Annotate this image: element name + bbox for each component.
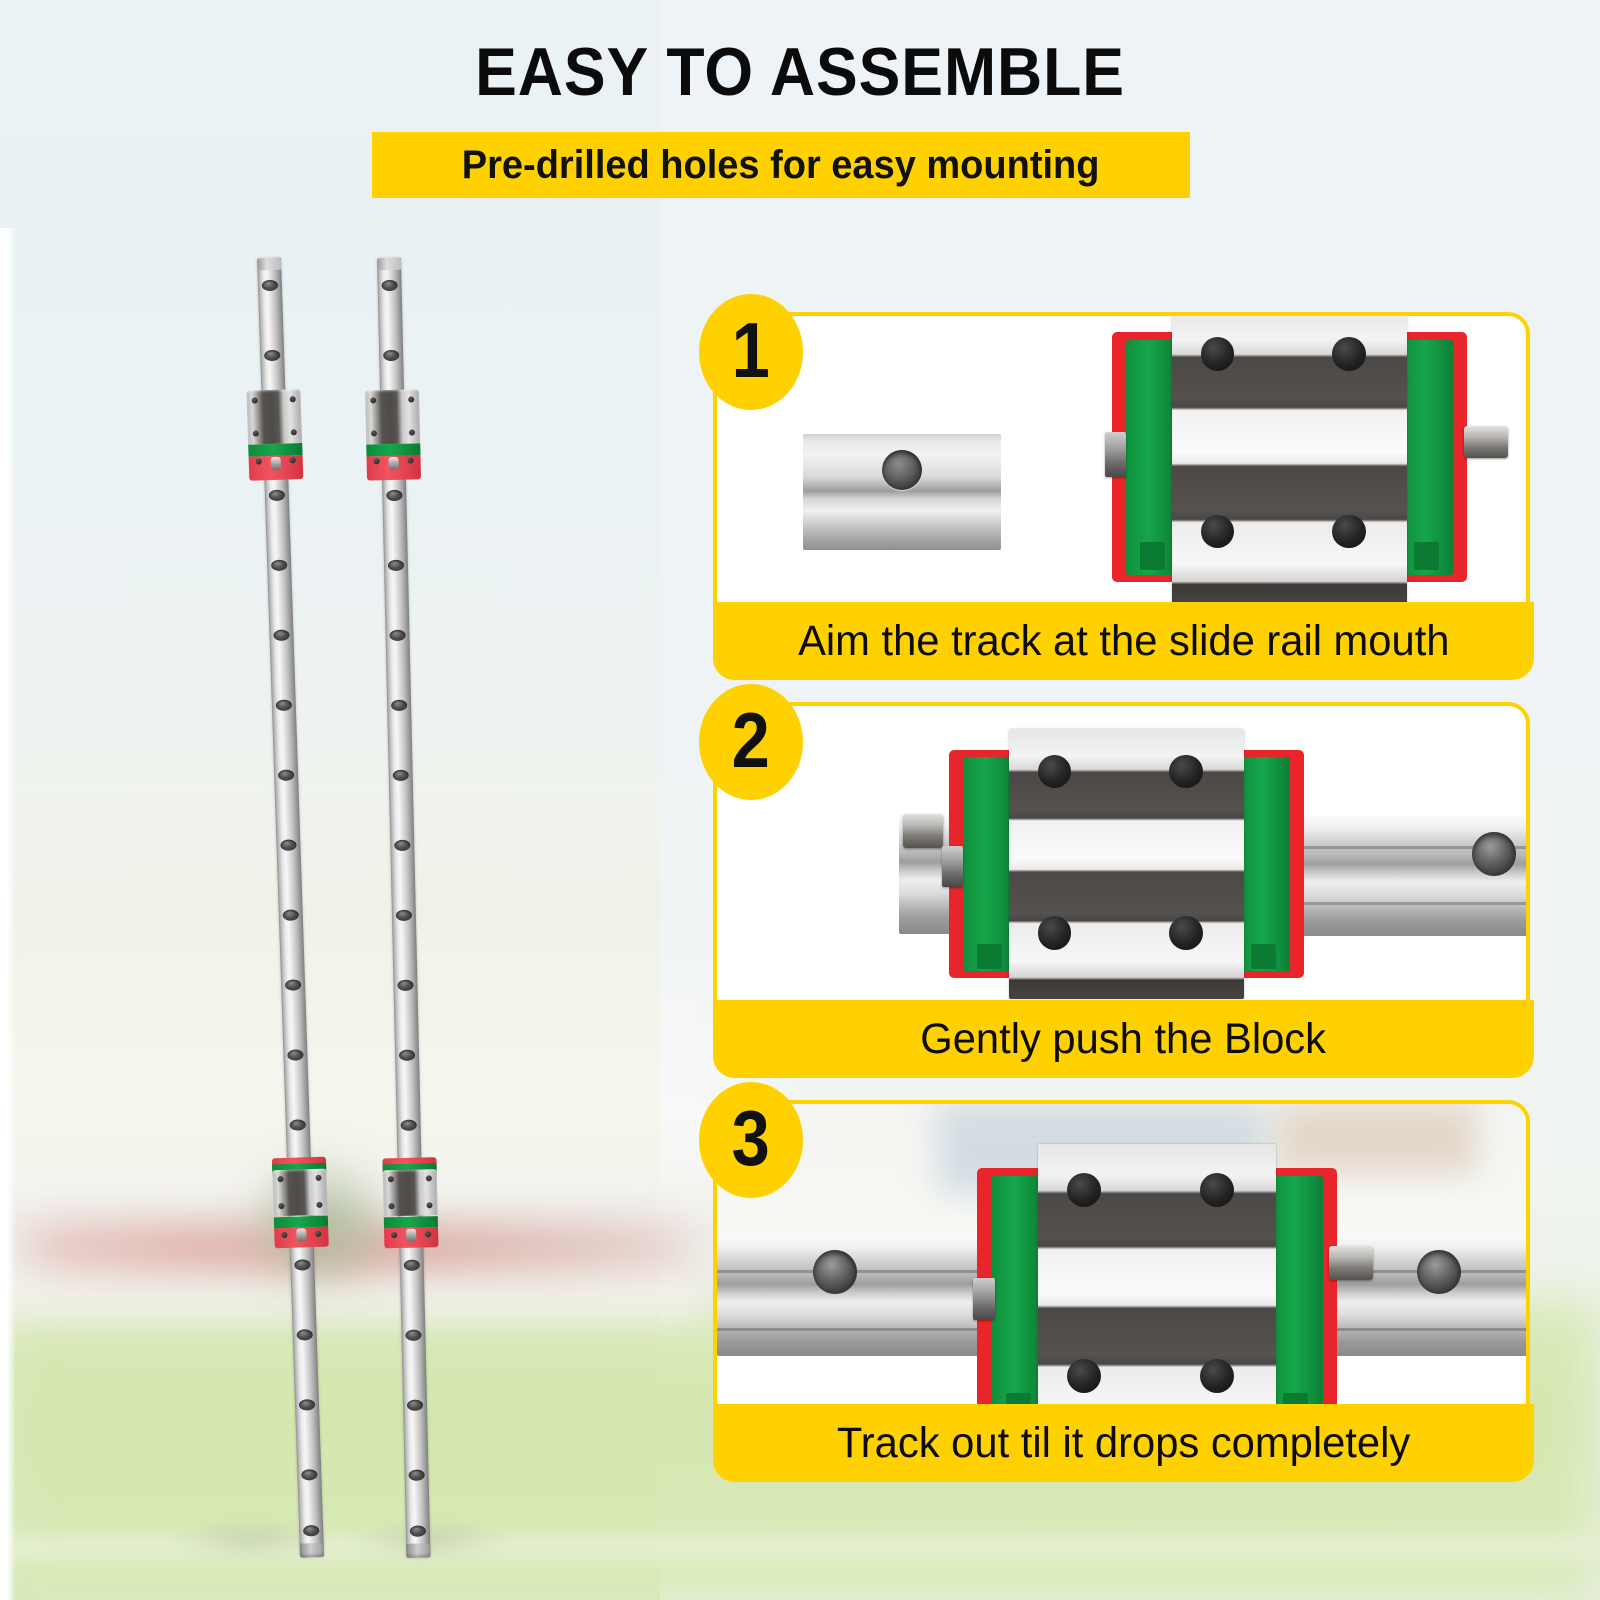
carriage-block — [382, 1157, 438, 1248]
rail-hole-closeup — [803, 434, 1001, 550]
step-caption-bar: Gently push the Block — [713, 1000, 1534, 1078]
carriage-block — [365, 389, 421, 480]
end-plug — [903, 814, 943, 848]
step-caption-bar: Track out til it drops completely — [713, 1404, 1534, 1482]
carriage-block-front-view — [977, 1168, 1337, 1430]
end-plug — [1329, 1246, 1373, 1280]
carriage-block — [272, 1157, 329, 1249]
step-number: 3 — [732, 1099, 770, 1177]
left-page-edge — [0, 228, 16, 1600]
step-caption-text: Track out til it drops completely — [837, 1419, 1410, 1468]
step-number: 1 — [732, 311, 770, 389]
step-panel-2: 2 Gently push the Block — [713, 702, 1530, 1078]
carriage-block-front-view — [949, 750, 1304, 978]
step-caption-text: Aim the track at the slide rail mouth — [798, 617, 1449, 666]
subtitle-text: Pre-drilled holes for easy mounting — [462, 143, 1100, 188]
page-title: EASY TO ASSEMBLE — [64, 38, 1536, 106]
step-panel-1: 1 Aim the track at the slide rail mouth — [713, 312, 1530, 680]
infographic-canvas: EASY TO ASSEMBLE Pre-drilled holes for e… — [0, 0, 1600, 1600]
carriage-block-front-view — [1112, 332, 1467, 582]
step-caption-text: Gently push the Block — [921, 1015, 1327, 1064]
end-plug — [1464, 426, 1508, 458]
step-panel-3: 3 Track out til it drops completely — [713, 1100, 1530, 1482]
step-caption-bar: Aim the track at the slide rail mouth — [713, 602, 1534, 680]
step-number-badge: 3 — [699, 1082, 803, 1198]
step-number-badge: 1 — [699, 294, 803, 410]
subtitle-banner: Pre-drilled holes for easy mounting — [372, 132, 1190, 198]
step-number-badge: 2 — [699, 684, 803, 800]
carriage-block — [246, 389, 303, 481]
step-number: 2 — [732, 701, 770, 779]
